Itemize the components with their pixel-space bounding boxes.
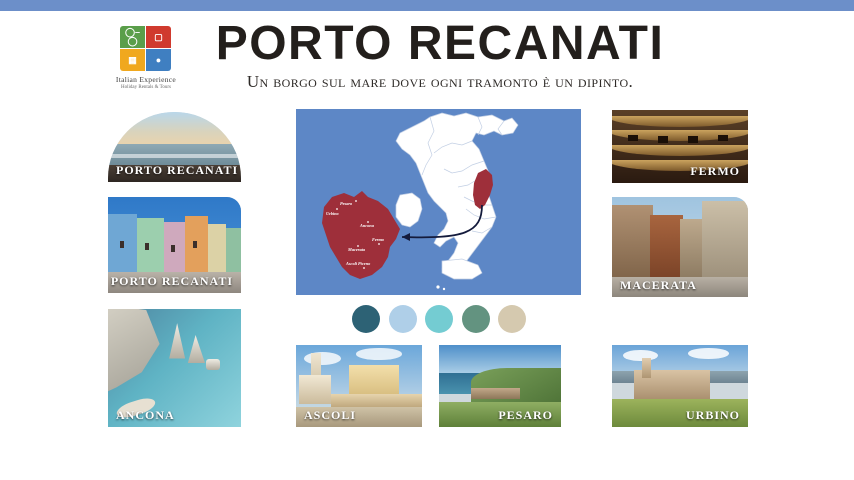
window [193,241,197,248]
swatch-sage-green[interactable] [462,305,490,333]
window [145,243,149,250]
photo-card-porto-recanati-houses[interactable]: PORTO RECANATI [108,197,241,293]
brand-tagline: Holiday Rentals & Tours [106,85,186,90]
page-header: ◯–◯ ▢ ▦ ● Italian Experience Holiday Ren… [0,14,854,100]
camera-icon: ▢ [146,26,171,48]
theatre-box [628,135,638,142]
swatch-sand-beige[interactable] [498,305,526,333]
page-subtitle: Un borgo sul mare dove ogni tramonto è u… [190,72,690,92]
italy-map-panel[interactable]: Pesaro Urbino Ancona Fermo Macerata Asco… [296,109,581,295]
puzzle-piece-blue: ● [146,49,171,71]
photo-card-pesaro[interactable]: PESARO [439,345,561,427]
building-right [702,201,748,283]
puzzle-logo-icon: ◯–◯ ▢ ▦ ● [120,26,172,72]
church-facade [299,375,332,405]
cloud [688,348,729,359]
brick-tower [650,215,683,277]
house-green [137,218,164,272]
photo-card-porto-recanati-beach[interactable]: PORTO RECANATI [108,112,241,182]
page-title: PORTO RECANATI [190,20,690,68]
city-label-pesaro: Pesaro [340,201,352,206]
photo-card-ascoli[interactable]: ASCOLI [296,345,422,427]
city-label-fermo: Fermo [372,237,384,242]
brand-name: Italian Experience [106,75,186,84]
sardinia [396,193,422,227]
city-label-ascoli-piceno: Ascoli Piceno [345,261,370,266]
theatre-box [718,135,728,142]
top-accent-bar [0,0,854,11]
map-arrow-head [402,233,410,241]
italy-map-svg: Pesaro Urbino Ancona Fermo Macerata Asco… [296,109,581,295]
italy-mainland [396,113,518,275]
swatch-sky-blue[interactable] [389,305,417,333]
photo-card-macerata[interactable]: MACERATA [612,197,748,297]
person-icon: ● [146,49,171,71]
sicily [442,259,482,279]
brand-logo[interactable]: ◯–◯ ▢ ▦ ● Italian Experience Holiday Ren… [106,26,186,90]
building-left [612,205,653,283]
bicycle-icon: ◯–◯ [120,26,145,48]
city-label-ancona: Ancona [359,223,375,228]
title-block: PORTO RECANATI Un borgo sul mare dove og… [190,20,690,92]
city-label-urbino: Urbino [326,211,339,216]
puzzle-piece-orange: ▦ [120,49,145,71]
city-label-macerata: Macerata [347,247,366,252]
puzzle-piece-red: ▢ [146,26,171,48]
puzzle-piece-green: ◯–◯ [120,26,145,48]
theatre-box [658,136,668,143]
island-dot [436,285,439,288]
photo-card-ancona[interactable]: ANCONA [108,309,241,427]
house-mint [226,228,241,272]
card-caption: PORTO RECANATI [116,163,238,178]
palace-tower [642,358,652,378]
building-icon: ▦ [120,49,145,71]
cloud [356,348,401,359]
island-dot [447,180,449,182]
card-caption: URBINO [686,408,740,423]
foam-layer [108,154,241,158]
card-caption: FERMO [690,164,740,179]
window [120,241,124,248]
swatch-deep-teal[interactable] [352,305,380,333]
card-caption: PESARO [498,408,553,423]
cloud [304,352,342,365]
sky-layer [108,112,241,144]
card-caption: PORTO RECANATI [111,274,233,289]
theatre-box [688,136,698,143]
photo-card-urbino[interactable]: URBINO [612,345,748,427]
photo-card-fermo[interactable]: FERMO [612,110,748,183]
brand-palette [352,304,526,334]
card-caption: ASCOLI [304,408,356,423]
swatch-turquoise[interactable] [425,305,453,333]
house-cream [208,224,227,272]
town-cluster [471,388,520,399]
island-dot [443,288,445,290]
arcade-portico [331,394,422,407]
window [171,245,175,252]
card-caption: ANCONA [116,408,175,423]
island-dot [452,173,456,177]
rock-small [206,359,219,371]
card-caption: MACERATA [620,278,697,293]
